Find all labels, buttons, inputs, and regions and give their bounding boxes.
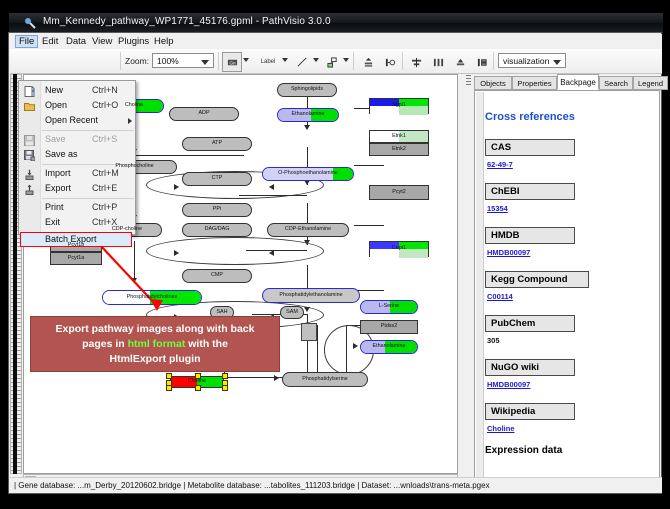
xref-label-kegg: Kegg Compound [485,271,589,288]
panel-tabs: Objects Properties Backpage Search Legen… [474,74,660,90]
label-dropdown-icon[interactable] [282,58,288,62]
xref-label-pubchem: PubChem [485,315,575,332]
svg-text:Gn: Gn [229,60,236,65]
menu-item-export-accel: Ctrl+E [92,183,117,193]
title-bar: Mm_Kennedy_pathway_WP1771_45176.gpml - P… [8,12,664,33]
node-label: Phosphatidylcholines [127,295,178,300]
status-bar: | Gene database: ...m_Derby_20120602.bri… [10,477,662,493]
node-label: PPi [213,207,221,212]
node-o-phosphoethanolamine[interactable]: O-Phosphoethanolamine [262,167,354,181]
menu-data[interactable]: Data [62,35,90,48]
chevron-down-icon-2 [553,60,561,65]
interaction-button[interactable] [322,52,342,72]
node-adp[interactable]: ADP [169,107,239,121]
node-sphingolipids[interactable]: Sphingolipids [277,83,337,97]
node-label: CMP [211,273,223,278]
node-phosphatidylethanolamine[interactable]: Phosphatidylethanolamine [262,288,360,303]
menu-item-new[interactable]: New Ctrl+N [20,84,136,98]
app-icon [24,17,36,29]
node-label: Sgpl1 [392,103,406,108]
node-phosphatidylcholines[interactable]: Phosphatidylcholines [102,290,202,305]
zoom-value: 100% [157,56,179,66]
callout-line-1: Export pathway images along with back [35,322,275,337]
node-sam[interactable]: SAM [280,306,304,319]
xref-label-nugo: NuGO wiki [485,359,575,376]
visualization-value: visualization [503,56,549,66]
menu-item-new-label: New [45,85,63,95]
tab-properties[interactable]: Properties [512,76,557,90]
node-l-serine[interactable]: L-Serine [360,300,418,314]
callout-line-2-b: with the [185,338,228,350]
node-ethanolamine-2[interactable]: Ethanolamine [360,340,418,354]
node-label: Sphingolipids [291,87,323,92]
expression-data-heading: Expression data [485,445,562,456]
export-icon [24,184,35,195]
menu-item-save-as-label: Save as [45,149,78,159]
selected-node-choline[interactable]: Choline [166,373,228,391]
new-file-icon [24,86,35,97]
node-ptdss2[interactable]: Ptdss2 [360,320,418,334]
menu-item-import-label: Import [45,168,71,178]
folder-icon [24,101,35,112]
submenu-arrow-icon [128,118,132,124]
xref-label-chebi: ChEBI [485,183,575,200]
node-sgpl1[interactable]: Sgpl1 [369,98,429,114]
visualization-combo[interactable]: visualization [498,53,566,68]
menu-item-new-accel: Ctrl+N [92,85,118,95]
node-label: ADP [198,111,209,116]
tool-bar: Zoom: 100% Gn Label [10,49,662,74]
menu-bar: File Edit Data View Plugins Help [10,34,662,50]
node-cdp-ethanolamine[interactable]: CDP-Ethanolamine [267,223,349,237]
menu-view[interactable]: View [88,35,116,48]
menu-plugins[interactable]: Plugins [114,35,153,48]
resize-handle-nw[interactable] [166,373,172,379]
datanode-dropdown-icon[interactable] [243,58,249,62]
align-top-button[interactable] [358,52,378,72]
menu-item-open-accel: Ctrl+O [92,100,118,110]
menu-item-print-label: Print [45,202,64,212]
menu-item-open-label: Open [45,100,67,110]
node-atp[interactable]: ATP [182,137,252,151]
node-label: Choline [188,379,206,384]
align-left-button[interactable] [380,52,400,72]
menu-item-save: Save Ctrl+S [20,133,136,147]
node-label: DAG/DAG [205,227,230,232]
tab-legend[interactable]: Legend [633,76,668,90]
menu-help[interactable]: Help [150,35,178,48]
menu-item-open-recent-label: Open Recent [45,115,98,125]
callout-highlight: html format [128,338,186,350]
node-label: Etnk2 [392,147,406,152]
menu-item-open[interactable]: Open Ctrl+O [20,99,136,113]
node-label: Ptdss2 [381,324,397,329]
file-menu-dropdown[interactable]: New Ctrl+N Open Ctrl+O Open Recent Save [18,80,136,235]
xref-value-nugo[interactable]: HMDB00097 [487,380,530,389]
menu-item-print[interactable]: Print Ctrl+P [20,201,136,215]
node-diacylglycerol[interactable]: DAG/DAG [182,223,252,237]
node-label: L-Serine [379,304,399,309]
node-label: CTP [212,176,223,181]
node-cmp[interactable]: CMP [182,269,252,283]
main-window: File Edit Data View Plugins Help Zoom: 1… [8,32,662,494]
distribute-horizontal-button[interactable] [428,52,448,72]
callout-line-2: pages in html format with the [35,337,275,352]
tab-objects[interactable]: Objects [474,76,512,90]
anchor-block [301,323,317,341]
cross-references-heading: Cross references [485,111,575,123]
menu-item-open-recent[interactable]: Open Recent [20,114,136,128]
align-center-button[interactable] [406,52,426,72]
backpage-content: Cross references CAS 62-49-7 ChEBI 15354… [474,90,660,484]
node-label: CDP-Ethanolamine [285,227,331,232]
panel-scrollbar[interactable] [476,92,484,484]
callout-line-3: HtmlExport plugin [35,352,275,367]
node-label: CDP-choline [112,227,142,232]
resize-handle-sw[interactable] [166,385,172,391]
xref-value-cas[interactable]: 62-49-7 [487,160,513,169]
xref-value-kegg[interactable]: C00114 [487,292,513,301]
menu-item-print-accel: Ctrl+P [92,202,117,212]
node-etnk2[interactable]: Etnk2 [369,143,429,156]
canvas-ruler-dark [13,74,17,474]
node-label: ATP [212,141,222,146]
node-label: Ethanolamine [373,344,406,349]
menu-item-export-label: Export [45,183,71,193]
line-button[interactable] [292,52,312,72]
node-cept1[interactable]: Cept1 [369,241,429,257]
same-width-button[interactable] [450,52,470,72]
zoom-combo[interactable]: 100% [152,53,214,68]
node-label: SAH [216,310,227,315]
side-panel: Objects Properties Backpage Search Legen… [464,74,660,487]
menu-file[interactable]: File [15,35,38,48]
menu-item-exit-label: Exit [45,217,60,227]
resize-handle-s[interactable] [195,385,201,391]
menu-item-export[interactable]: Export Ctrl+E [20,182,136,196]
app-window: Mm_Kennedy_pathway_WP1771_45176.gpml - P… [0,0,670,509]
save-as-icon [24,150,35,161]
datanode-button[interactable]: Gn [222,52,242,72]
stack-button[interactable] [472,52,492,72]
node-label: Pcyt1a [68,256,84,261]
annotation-callout: Export pathway images along with back pa… [30,316,280,372]
xref-value-chebi[interactable]: 15354 [487,204,508,213]
node-ctp[interactable]: CTP [182,172,252,186]
import-icon [24,169,35,180]
resize-handle-se[interactable] [222,385,228,391]
node-label: Pcyt2 [392,190,405,195]
line-dropdown-icon[interactable] [313,58,319,62]
node-ppi[interactable]: PPi [182,203,252,217]
chevron-down-icon [201,60,209,65]
node-ethanolamine-1[interactable]: Ethanolamine [277,108,339,122]
node-label: Ethanolamine [292,112,325,117]
node-label: Phosphatidylethanolamine [279,293,342,298]
panel-grip[interactable] [466,75,471,87]
node-label: Pcyt1b [68,243,84,248]
node-pcyt1a[interactable]: Pcyt1a [50,252,102,265]
menu-item-save-accel: Ctrl+S [92,134,117,144]
menu-edit[interactable]: Edit [38,35,62,48]
save-icon [24,135,35,146]
window-title: Mm_Kennedy_pathway_WP1771_45176.gpml - P… [43,16,331,27]
callout-line-2-a: pages in [82,338,128,350]
xref-value-wikipedia[interactable]: Choline [487,424,515,433]
label-button-text: Label [261,59,276,65]
xref-value-hmdb[interactable]: HMDB00097 [487,248,530,257]
menu-item-save-label: Save [45,134,66,144]
xref-label-hmdb: HMDB [485,227,575,244]
node-phosphatidylserine[interactable]: Phosphatidylserine [282,372,368,387]
xref-label-cas: CAS [485,139,575,156]
zoom-label: Zoom: [125,56,149,66]
menu-item-save-as[interactable]: Save as [20,148,136,162]
xref-label-wikipedia: Wikipedia [485,403,575,420]
node-label: SAM [286,310,298,315]
tab-backpage[interactable]: Backpage [557,74,599,90]
node-etnk1[interactable]: Etnk1 [369,130,429,143]
label-button[interactable]: Label [254,52,282,72]
node-label: Etnk1 [392,134,406,139]
node-pcyt2[interactable]: Pcyt2 [369,185,429,200]
node-label: Choline [125,103,143,108]
node-label: Cept1 [392,246,406,251]
node-label: Phosphatidylserine [302,377,348,382]
resize-handle-ne[interactable] [222,373,228,379]
tab-search[interactable]: Search [599,76,633,90]
node-label: Phosphocholine [115,164,153,169]
xref-value-pubchem: 305 [487,336,500,345]
node-label: O-Phosphoethanolamine [278,171,338,176]
interaction-dropdown-icon[interactable] [343,58,349,62]
